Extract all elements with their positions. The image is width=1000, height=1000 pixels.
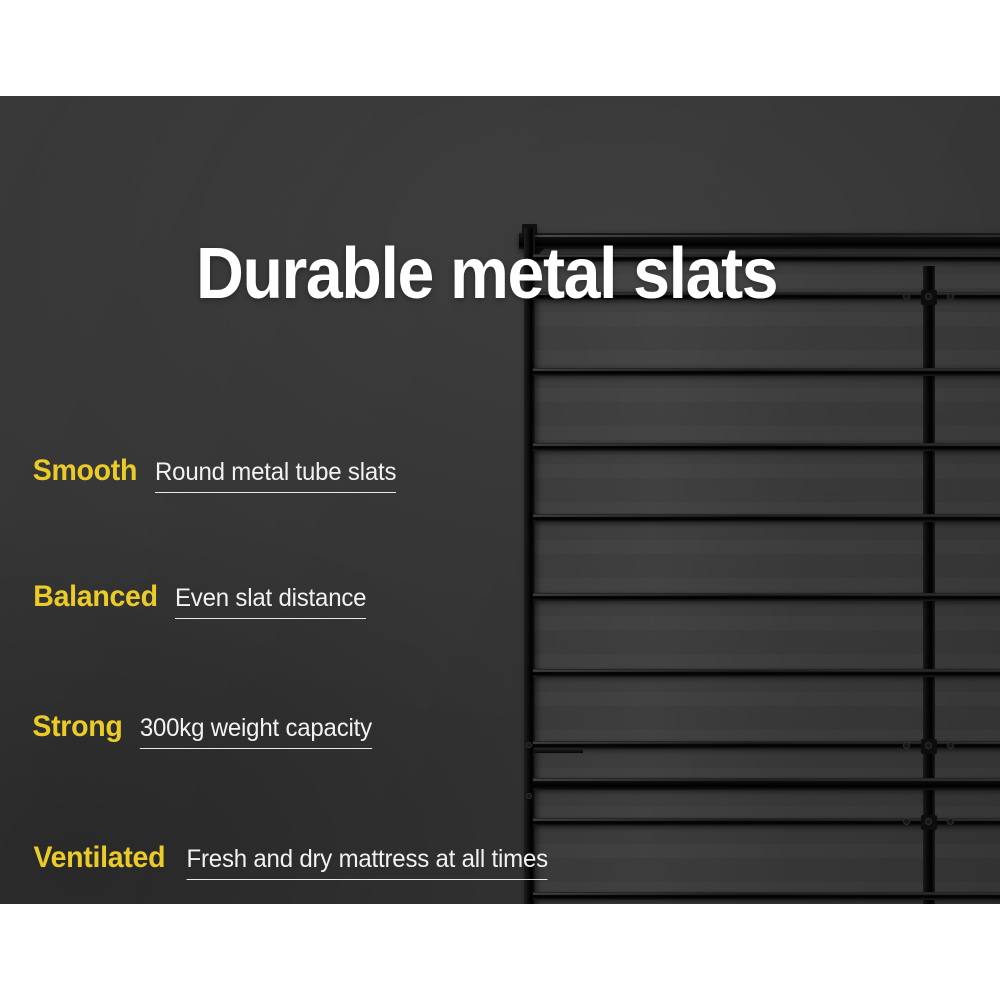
- bracket-bolt: [925, 818, 932, 825]
- bed-frame-center-support-rail: [923, 266, 935, 904]
- slat-highlight: [533, 515, 1000, 517]
- feature-description: Fresh and dry mattress at all times: [186, 844, 547, 880]
- slat-bracket-hardware: [901, 739, 957, 754]
- bracket-bolt: [947, 818, 954, 825]
- slat-highlight: [533, 444, 1000, 446]
- metal-slat: [533, 593, 1000, 601]
- feature-item-ventilated: Ventilated Fresh and dry mattress at all…: [30, 841, 555, 880]
- slat-bracket-hardware: [901, 290, 957, 305]
- bracket-bolt: [903, 742, 910, 749]
- metal-slat: [533, 514, 1000, 522]
- feature-label: Smooth: [33, 454, 137, 488]
- metal-slat-cross-rail: [533, 778, 1000, 790]
- bed-frame-product-image: [505, 96, 1000, 904]
- bracket-bolt: [947, 293, 954, 300]
- bracket-bolt: [947, 742, 954, 749]
- feature-description: Even slat distance: [175, 583, 366, 619]
- product-feature-banner: Durable metal slats Smooth Round metal t…: [0, 0, 1000, 1000]
- slat-highlight: [533, 779, 1000, 781]
- metal-slat: [533, 669, 1000, 677]
- page-title: Durable metal slats: [196, 226, 777, 322]
- feature-description: Round metal tube slats: [155, 457, 396, 493]
- feature-item-smooth: Smooth Round metal tube slats: [30, 454, 401, 493]
- bracket-bolt: [925, 293, 932, 300]
- metal-slat: [533, 443, 1000, 451]
- dark-content-panel: Durable metal slats Smooth Round metal t…: [0, 96, 1000, 904]
- bracket-bolt: [903, 818, 910, 825]
- bed-frame-left-side-rail: [524, 228, 535, 904]
- feature-description: 300kg weight capacity: [140, 713, 372, 749]
- feature-label: Ventilated: [33, 841, 165, 875]
- feature-item-strong: Strong 300kg weight capacity: [30, 710, 377, 749]
- feature-item-balanced: Balanced Even slat distance: [30, 580, 370, 619]
- metal-slat-stub: [535, 748, 583, 753]
- slat-highlight: [533, 670, 1000, 672]
- slat-bracket-hardware: [901, 815, 957, 830]
- slat-highlight: [533, 893, 1000, 895]
- feature-label: Strong: [32, 710, 122, 744]
- side-rail-bolt: [526, 742, 532, 748]
- bracket-bolt: [925, 742, 932, 749]
- metal-slat: [533, 368, 1000, 376]
- slat-highlight: [533, 369, 1000, 371]
- feature-label: Balanced: [33, 580, 157, 614]
- metal-slat: [533, 892, 1000, 900]
- side-rail-bolt: [526, 793, 532, 799]
- bracket-bolt: [903, 293, 910, 300]
- slat-highlight: [533, 594, 1000, 596]
